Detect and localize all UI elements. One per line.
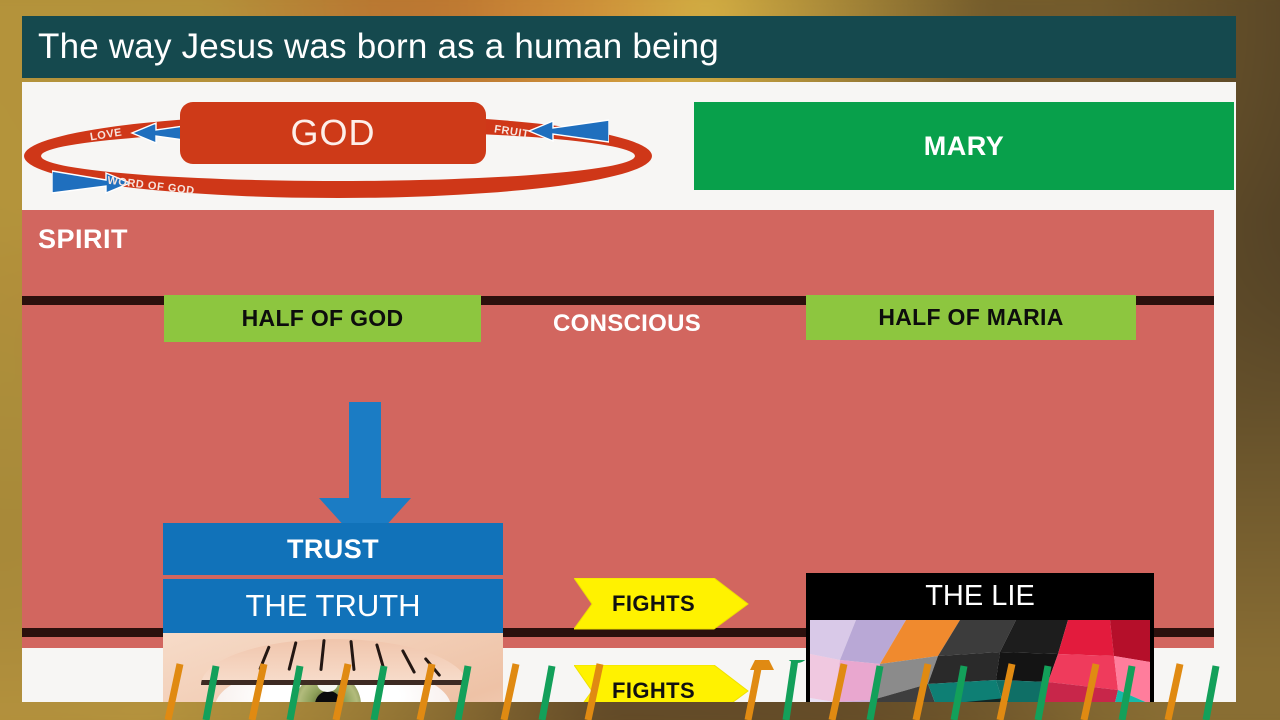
trust-label: TRUST bbox=[287, 534, 379, 565]
body-panel: SPIRIT HALF OF GOD CONSCIOUS HALF OF MAR… bbox=[22, 210, 1214, 648]
fights-arrow-1: FIGHTS bbox=[574, 578, 749, 630]
god-label: GOD bbox=[290, 112, 375, 154]
mary-box[interactable]: MARY bbox=[694, 102, 1234, 190]
spirit-label: SPIRIT bbox=[38, 224, 128, 255]
page-title: The way Jesus was born as a human being bbox=[22, 27, 719, 67]
slide-canvas: LOVE WORD OF GOD FRUIT GOD MARY SPIRIT H… bbox=[22, 82, 1236, 702]
the-lie-title: THE LIE bbox=[806, 573, 1154, 620]
title-bar: The way Jesus was born as a human being bbox=[22, 16, 1236, 78]
orange-nerve-arrowhead bbox=[750, 660, 774, 670]
mary-label: MARY bbox=[924, 131, 1005, 162]
slide: The way Jesus was born as a human being … bbox=[0, 0, 1280, 720]
half-of-maria-spirit-box[interactable]: HALF OF MARIA bbox=[806, 295, 1136, 340]
the-truth-label: THE TRUTH bbox=[245, 588, 420, 624]
fights-label-1: FIGHTS bbox=[612, 591, 695, 617]
trust-box[interactable]: TRUST bbox=[163, 523, 503, 575]
god-box[interactable]: GOD bbox=[180, 102, 486, 164]
half-of-maria-spirit-label: HALF OF MARIA bbox=[878, 304, 1063, 331]
nerve-arrows-group bbox=[0, 660, 1280, 720]
green-nerve-dot bbox=[784, 660, 810, 663]
the-truth-box[interactable]: THE TRUTH bbox=[163, 579, 503, 633]
orange-nerve-lines bbox=[168, 660, 1180, 720]
half-of-god-spirit-label: HALF OF GOD bbox=[242, 305, 404, 332]
green-nerve-lines bbox=[206, 660, 1216, 720]
god-cycle-group: LOVE WORD OF GOD FRUIT GOD bbox=[22, 92, 662, 207]
half-of-god-spirit-box[interactable]: HALF OF GOD bbox=[164, 295, 481, 342]
fruit-arrow-icon bbox=[527, 118, 609, 144]
conscious-label: CONSCIOUS bbox=[553, 310, 701, 338]
